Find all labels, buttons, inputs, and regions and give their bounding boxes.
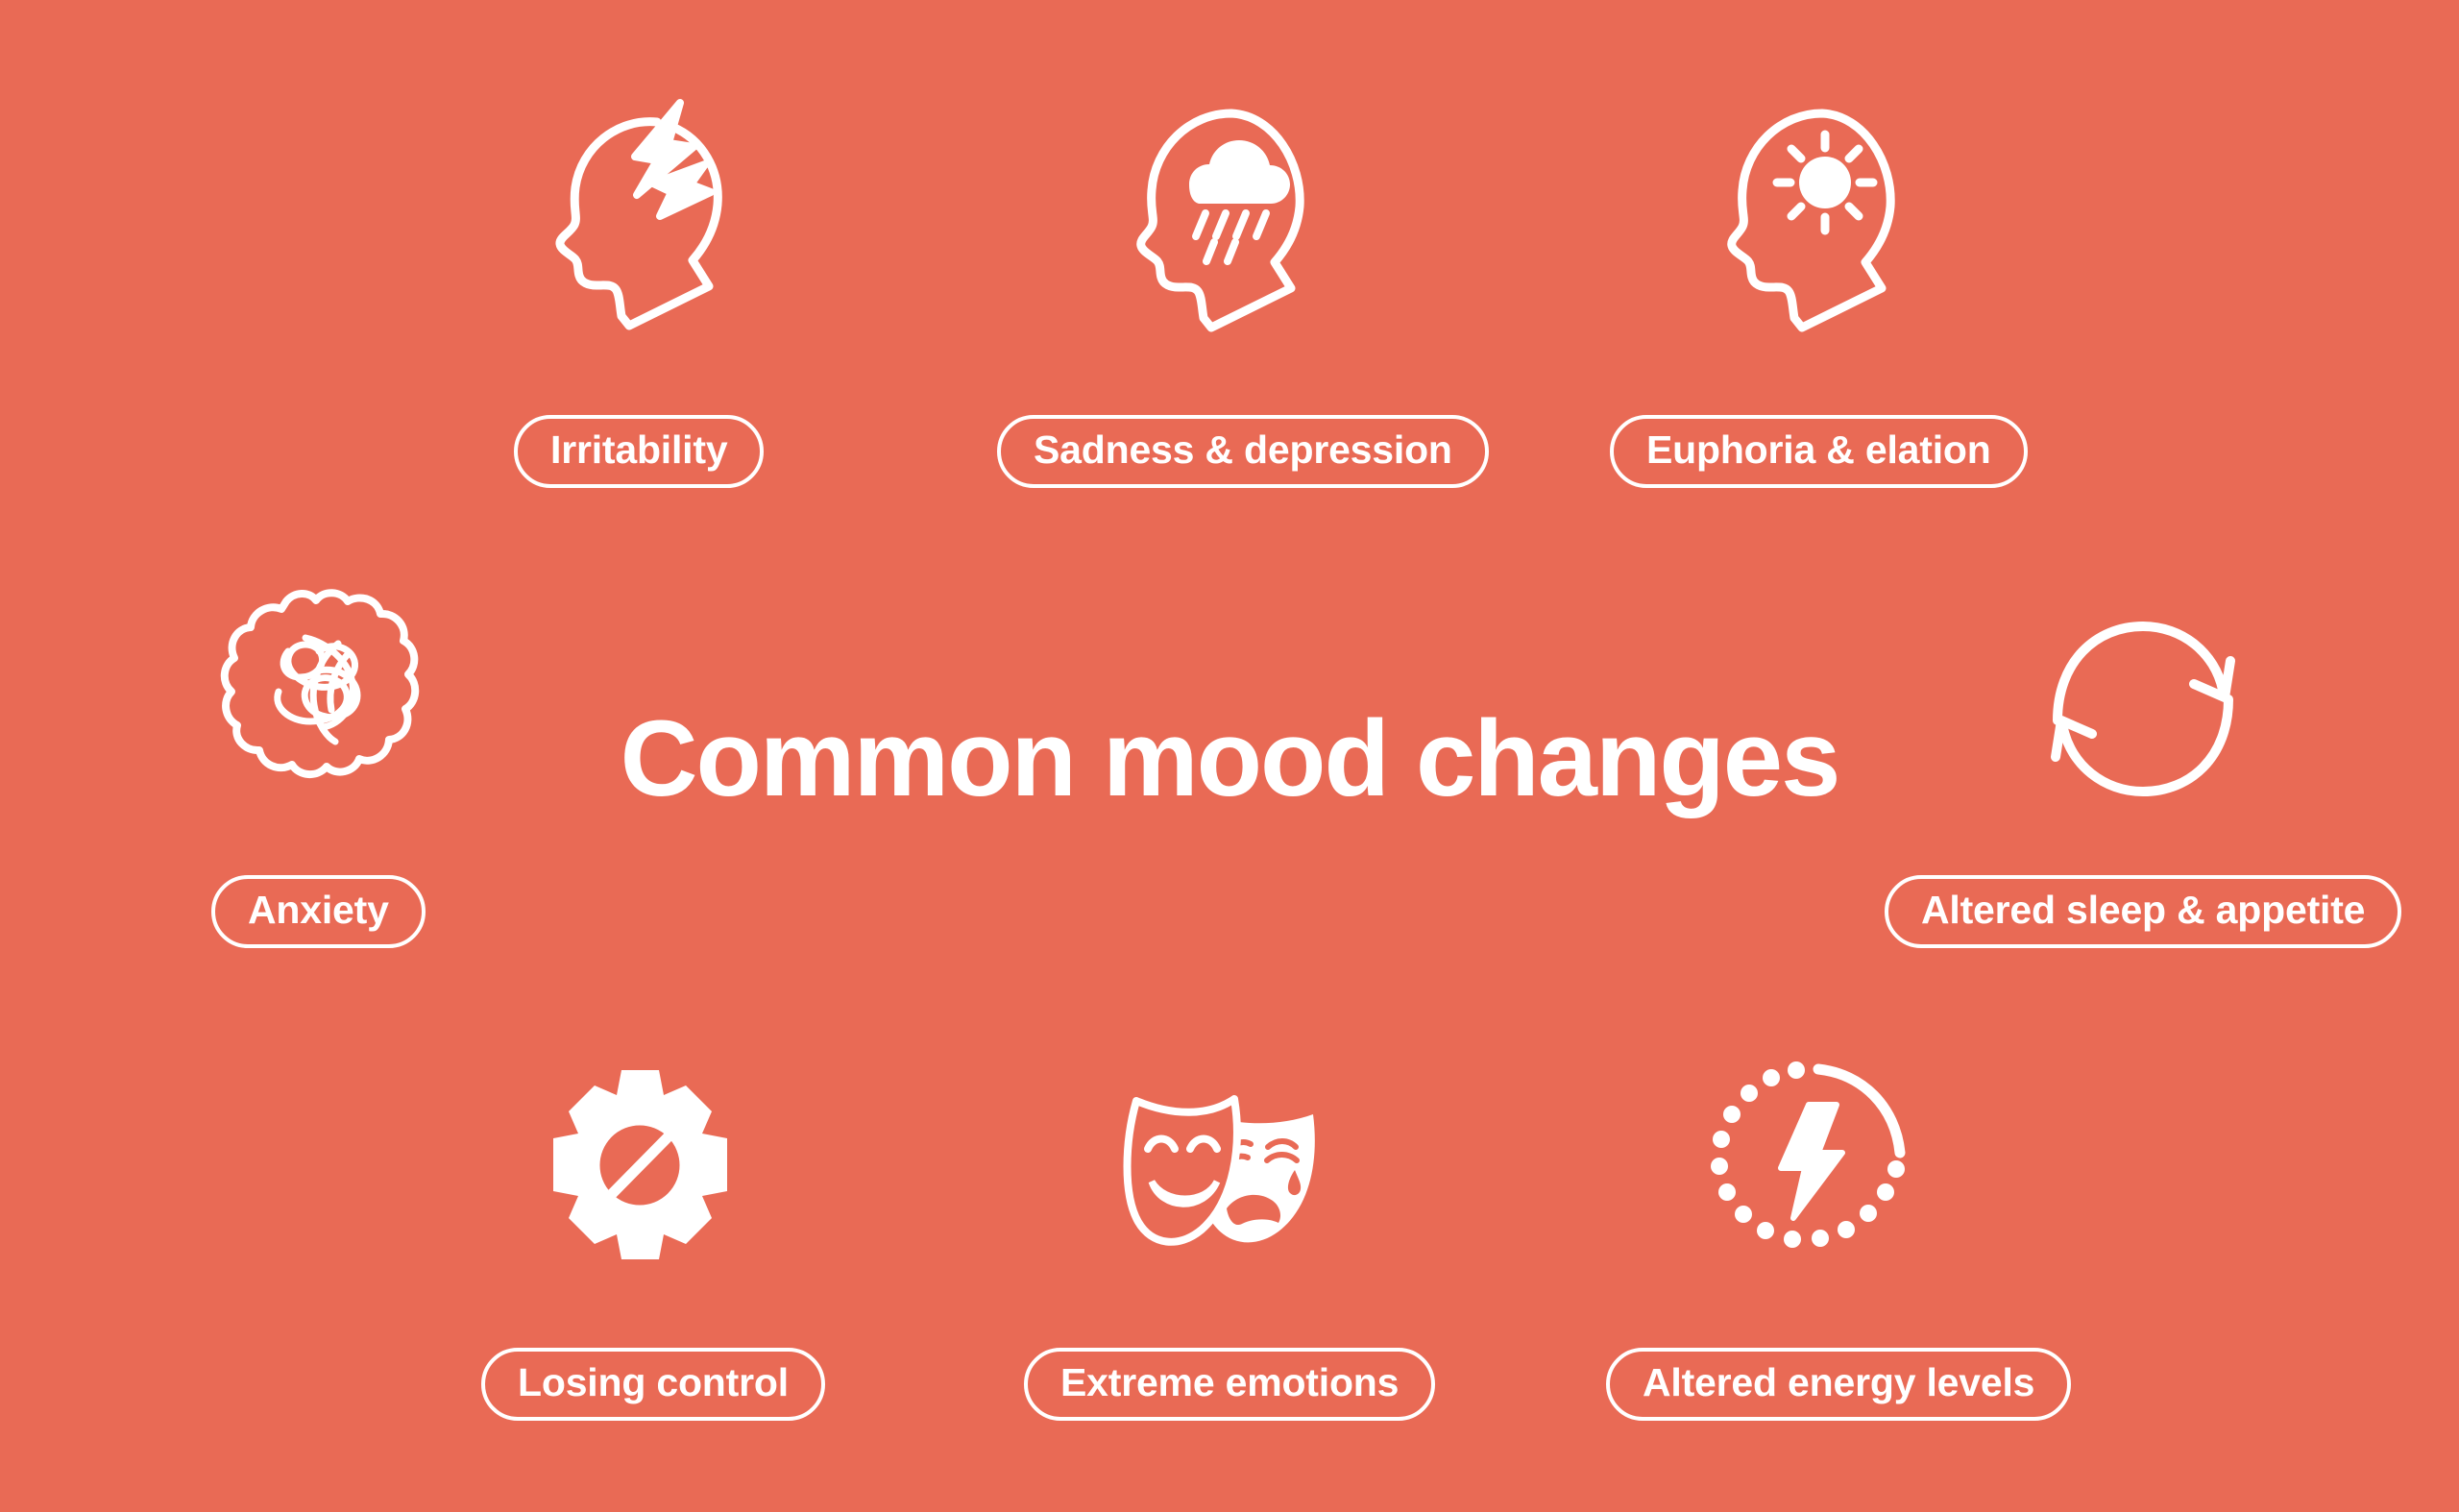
chip-label: Altered energy levels (1643, 1363, 2034, 1402)
chip-extreme-emotions[interactable]: Extreme emotions (1024, 1348, 1435, 1421)
gear-blocked-icon (542, 1066, 739, 1263)
chip-anxiety[interactable]: Anxiety (211, 875, 426, 948)
lightning-bolt-dots-icon (1705, 1057, 1911, 1263)
chip-label: Euphoria & elation (1646, 430, 1991, 470)
theater-masks-icon (1109, 1066, 1359, 1258)
chip-label: Altered sleep & appetite (1921, 890, 2365, 930)
chip-label: Sadness & depression (1034, 430, 1452, 470)
chip-label: Irritability (550, 430, 727, 470)
chip-irritability[interactable]: Irritability (514, 415, 764, 488)
chip-sadness-depression[interactable]: Sadness & depression (997, 415, 1489, 488)
infographic-canvas: Irritability Sadness & depression (0, 0, 2459, 1512)
chip-label: Losing control (518, 1363, 789, 1402)
head-lightning-icon (552, 91, 740, 331)
head-sun-icon (1734, 106, 1911, 336)
chip-label: Anxiety (248, 890, 389, 930)
chip-euphoria-elation[interactable]: Euphoria & elation (1610, 415, 2028, 488)
head-raincloud-icon (1143, 106, 1321, 336)
chip-altered-sleep-appetite[interactable]: Altered sleep & appetite (1885, 875, 2401, 948)
chip-losing-control[interactable]: Losing control (481, 1348, 825, 1421)
chip-label: Extreme emotions (1060, 1363, 1399, 1402)
chip-altered-energy-levels[interactable]: Altered energy levels (1606, 1348, 2071, 1421)
circular-arrows-icon (2038, 615, 2248, 802)
